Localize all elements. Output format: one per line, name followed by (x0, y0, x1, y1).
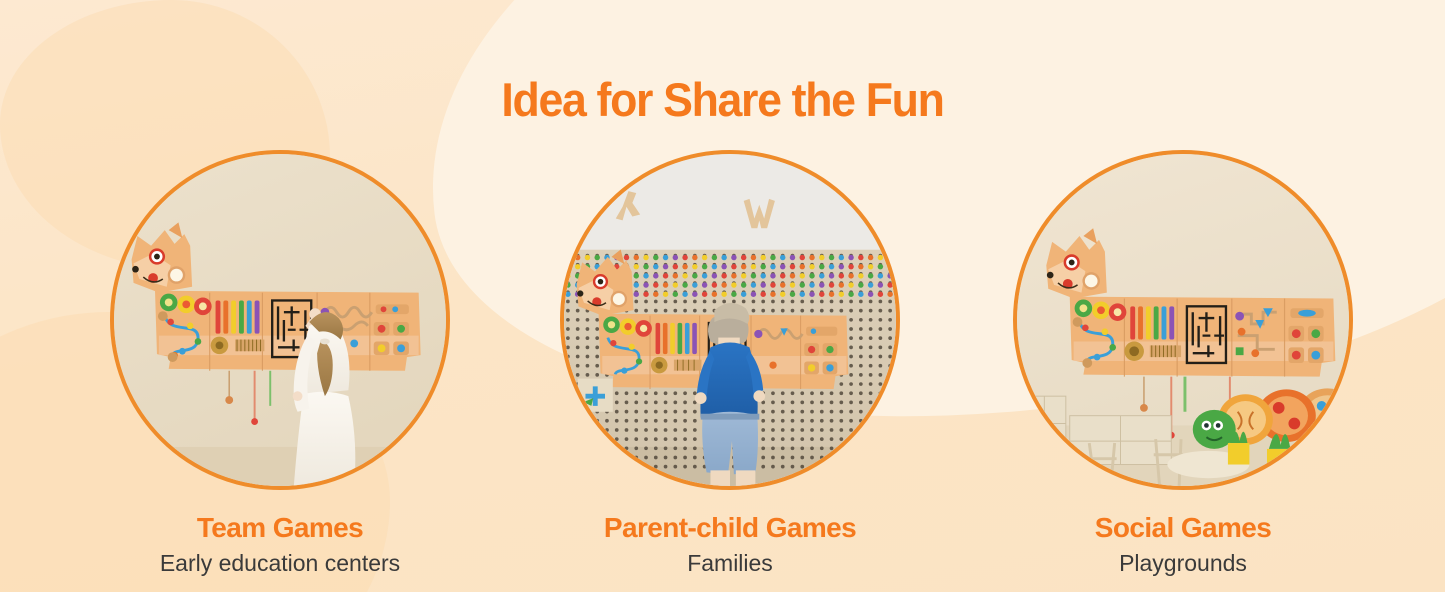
photo-parent-child-games (560, 150, 900, 490)
feature-card-team-games[interactable]: Team Games Early education centers (110, 150, 450, 577)
feature-card-parent-child-games[interactable]: Parent-child Games Families (560, 150, 900, 577)
card-subtitle: Early education centers (110, 550, 450, 577)
card-title: Parent-child Games (560, 512, 900, 544)
page-title: Idea for Share the Fun (36, 74, 1409, 126)
card-title: Team Games (110, 512, 450, 544)
photo-social-games (1013, 150, 1353, 490)
card-subtitle: Families (560, 550, 900, 577)
card-subtitle: Playgrounds (1013, 550, 1353, 577)
card-title: Social Games (1013, 512, 1353, 544)
promo-banner: Idea for Share the Fun (0, 0, 1445, 592)
feature-card-social-games[interactable]: Social Games Playgrounds (1013, 150, 1353, 577)
photo-team-games (110, 150, 450, 490)
feature-card-list: Team Games Early education centers (0, 150, 1445, 580)
